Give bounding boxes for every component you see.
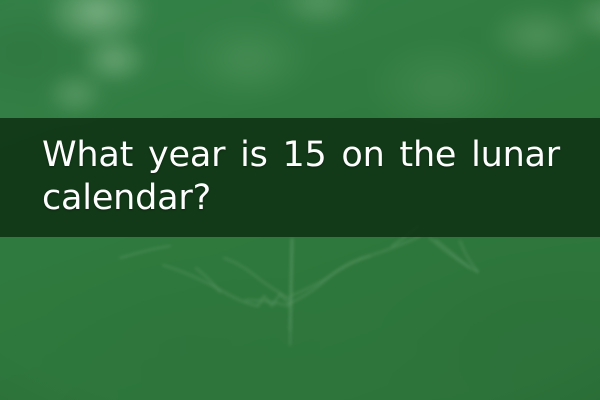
question-card: What year is 15 on the lunar calendar? — [0, 0, 600, 400]
caption-band: What year is 15 on the lunar calendar? — [0, 118, 600, 237]
question-text: What year is 15 on the lunar calendar? — [0, 134, 600, 220]
